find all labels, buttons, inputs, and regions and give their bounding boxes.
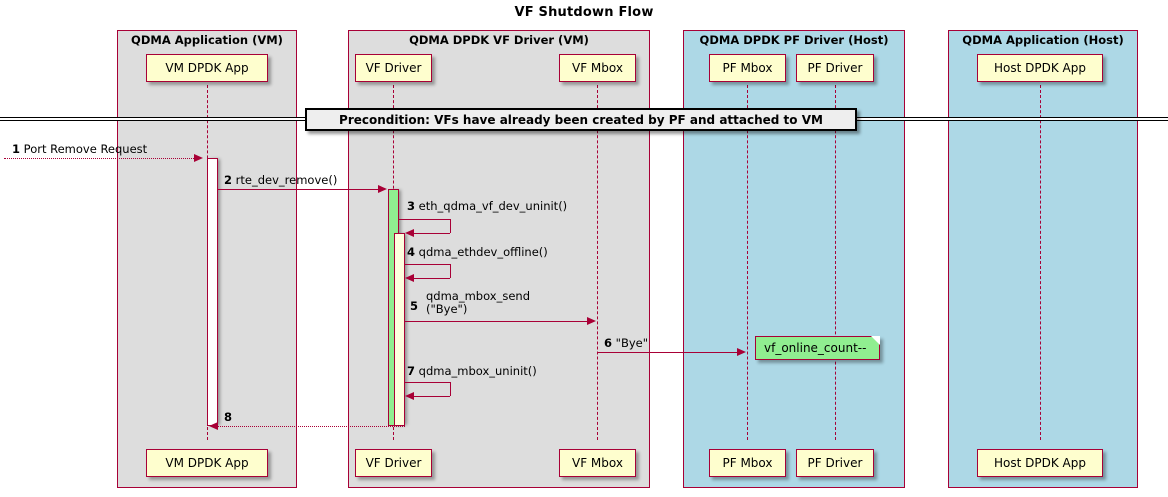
message-7-number: 7 [407, 364, 415, 378]
message-7-line-right [450, 382, 451, 396]
note-fold-icon [871, 336, 880, 345]
participant-pf-driver-bottom[interactable]: PF Driver [796, 449, 874, 477]
message-4-line-right [450, 264, 451, 278]
message-6-text: "Bye" [616, 336, 648, 350]
message-7-arrowhead [405, 392, 414, 400]
participant-vm-dpdk-app-top[interactable]: VM DPDK App [146, 54, 268, 82]
message-5-number-wrap: 5 [410, 300, 418, 313]
message-8-line [218, 426, 405, 427]
message-8-number: 8 [224, 410, 232, 424]
note-label: vf_online_count-- [764, 341, 866, 355]
message-2-number: 2 [224, 173, 232, 187]
participant-label: Host DPDK App [994, 456, 1086, 470]
page-title: VF Shutdown Flow [0, 5, 1168, 20]
group-title: QDMA DPDK VF Driver (VM) [349, 33, 649, 47]
participant-label: VF Driver [366, 61, 422, 75]
participant-label: PF Driver [808, 61, 863, 75]
message-4-label: 4 qdma_ethdev_offline() [407, 246, 548, 259]
message-8-arrowhead [209, 422, 218, 430]
message-3-arrowhead [405, 229, 414, 237]
message-5-arrowhead [587, 317, 596, 325]
group-qdma-dpdk-pf-driver-host: QDMA DPDK PF Driver (Host) [683, 30, 905, 488]
group-title: QDMA DPDK PF Driver (Host) [684, 33, 904, 47]
participant-label: VM DPDK App [165, 61, 248, 75]
participant-host-dpdk-app-top[interactable]: Host DPDK App [977, 54, 1103, 82]
message-5-number: 5 [410, 299, 418, 313]
message-2-label: 2 rte_dev_remove() [224, 174, 337, 187]
participant-pf-mbox-bottom[interactable]: PF Mbox [709, 449, 786, 477]
message-3-line-bottom [414, 233, 450, 234]
participant-vf-driver-bottom[interactable]: VF Driver [355, 449, 432, 477]
message-2-arrowhead [378, 185, 387, 193]
message-7-line-top [405, 382, 450, 383]
participant-label: VM DPDK App [165, 456, 248, 470]
participant-label: VF Driver [366, 456, 422, 470]
participant-vf-mbox-top[interactable]: VF Mbox [559, 54, 636, 82]
message-1-text: Port Remove Request [24, 142, 148, 156]
vf-online-count-note: vf_online_count-- [755, 336, 880, 360]
message-7-line-bottom [414, 396, 450, 397]
message-5-line [405, 321, 587, 322]
message-6-line [597, 352, 737, 353]
participant-label: PF Mbox [723, 61, 773, 75]
participant-vf-mbox-bottom[interactable]: VF Mbox [559, 449, 636, 477]
message-1-line [4, 158, 194, 159]
participant-label: VF Mbox [572, 61, 623, 75]
message-3-line-right [450, 219, 451, 233]
sequence-diagram: VF Shutdown Flow QDMA Application (VM) Q… [0, 0, 1168, 497]
participant-pf-driver-top[interactable]: PF Driver [796, 54, 874, 82]
message-1-arrowhead [194, 154, 203, 162]
lifeline-pf-driver [835, 85, 836, 440]
message-2-line [218, 189, 378, 190]
participant-vm-dpdk-app-bottom[interactable]: VM DPDK App [146, 449, 268, 477]
precondition-divider: Precondition: VFs have already been crea… [305, 108, 857, 131]
group-title: QDMA Application (Host) [949, 33, 1137, 47]
lifeline-pf-mbox [747, 85, 748, 440]
message-3-number: 3 [407, 199, 415, 213]
participant-label: PF Mbox [723, 456, 773, 470]
message-4-number: 4 [407, 245, 415, 259]
message-3-line-top [399, 219, 450, 220]
message-7-text: qdma_mbox_uninit() [419, 364, 537, 378]
message-6-number: 6 [604, 336, 612, 350]
message-4-arrowhead [405, 274, 414, 282]
participant-label: VF Mbox [572, 456, 623, 470]
message-8-label: 8 [224, 411, 232, 424]
message-3-text: eth_qdma_vf_dev_uninit() [419, 199, 568, 213]
message-5-text-block: qdma_mbox_send ("Bye") [426, 290, 566, 316]
message-1-label: 1 Port Remove Request [12, 143, 147, 156]
message-3-label: 3 eth_qdma_vf_dev_uninit() [407, 200, 567, 213]
activation-vm-dpdk-app [207, 158, 218, 426]
precondition-label: Precondition: VFs have already been crea… [339, 113, 823, 127]
message-4-line-top [405, 264, 450, 265]
participant-label: PF Driver [808, 456, 863, 470]
message-5-text-second-line: ("Bye") [426, 302, 467, 316]
lifeline-host-dpdk-app [1040, 85, 1041, 440]
group-qdma-application-host: QDMA Application (Host) [948, 30, 1138, 488]
message-1-number: 1 [12, 142, 20, 156]
message-5-text: qdma_mbox_send [426, 289, 530, 303]
lifeline-vf-mbox [597, 85, 598, 440]
activation-vf-driver-nested [394, 233, 405, 426]
participant-label: Host DPDK App [994, 61, 1086, 75]
participant-vf-driver-top[interactable]: VF Driver [355, 54, 432, 82]
message-4-text: qdma_ethdev_offline() [419, 245, 548, 259]
message-2-text: rte_dev_remove() [236, 173, 338, 187]
message-7-label: 7 qdma_mbox_uninit() [407, 365, 537, 378]
participant-host-dpdk-app-bottom[interactable]: Host DPDK App [977, 449, 1103, 477]
message-4-line-bottom [414, 278, 450, 279]
message-6-arrowhead [737, 348, 746, 356]
group-title: QDMA Application (VM) [118, 33, 296, 47]
participant-pf-mbox-top[interactable]: PF Mbox [709, 54, 786, 82]
message-6-label: 6 "Bye" [604, 337, 648, 350]
